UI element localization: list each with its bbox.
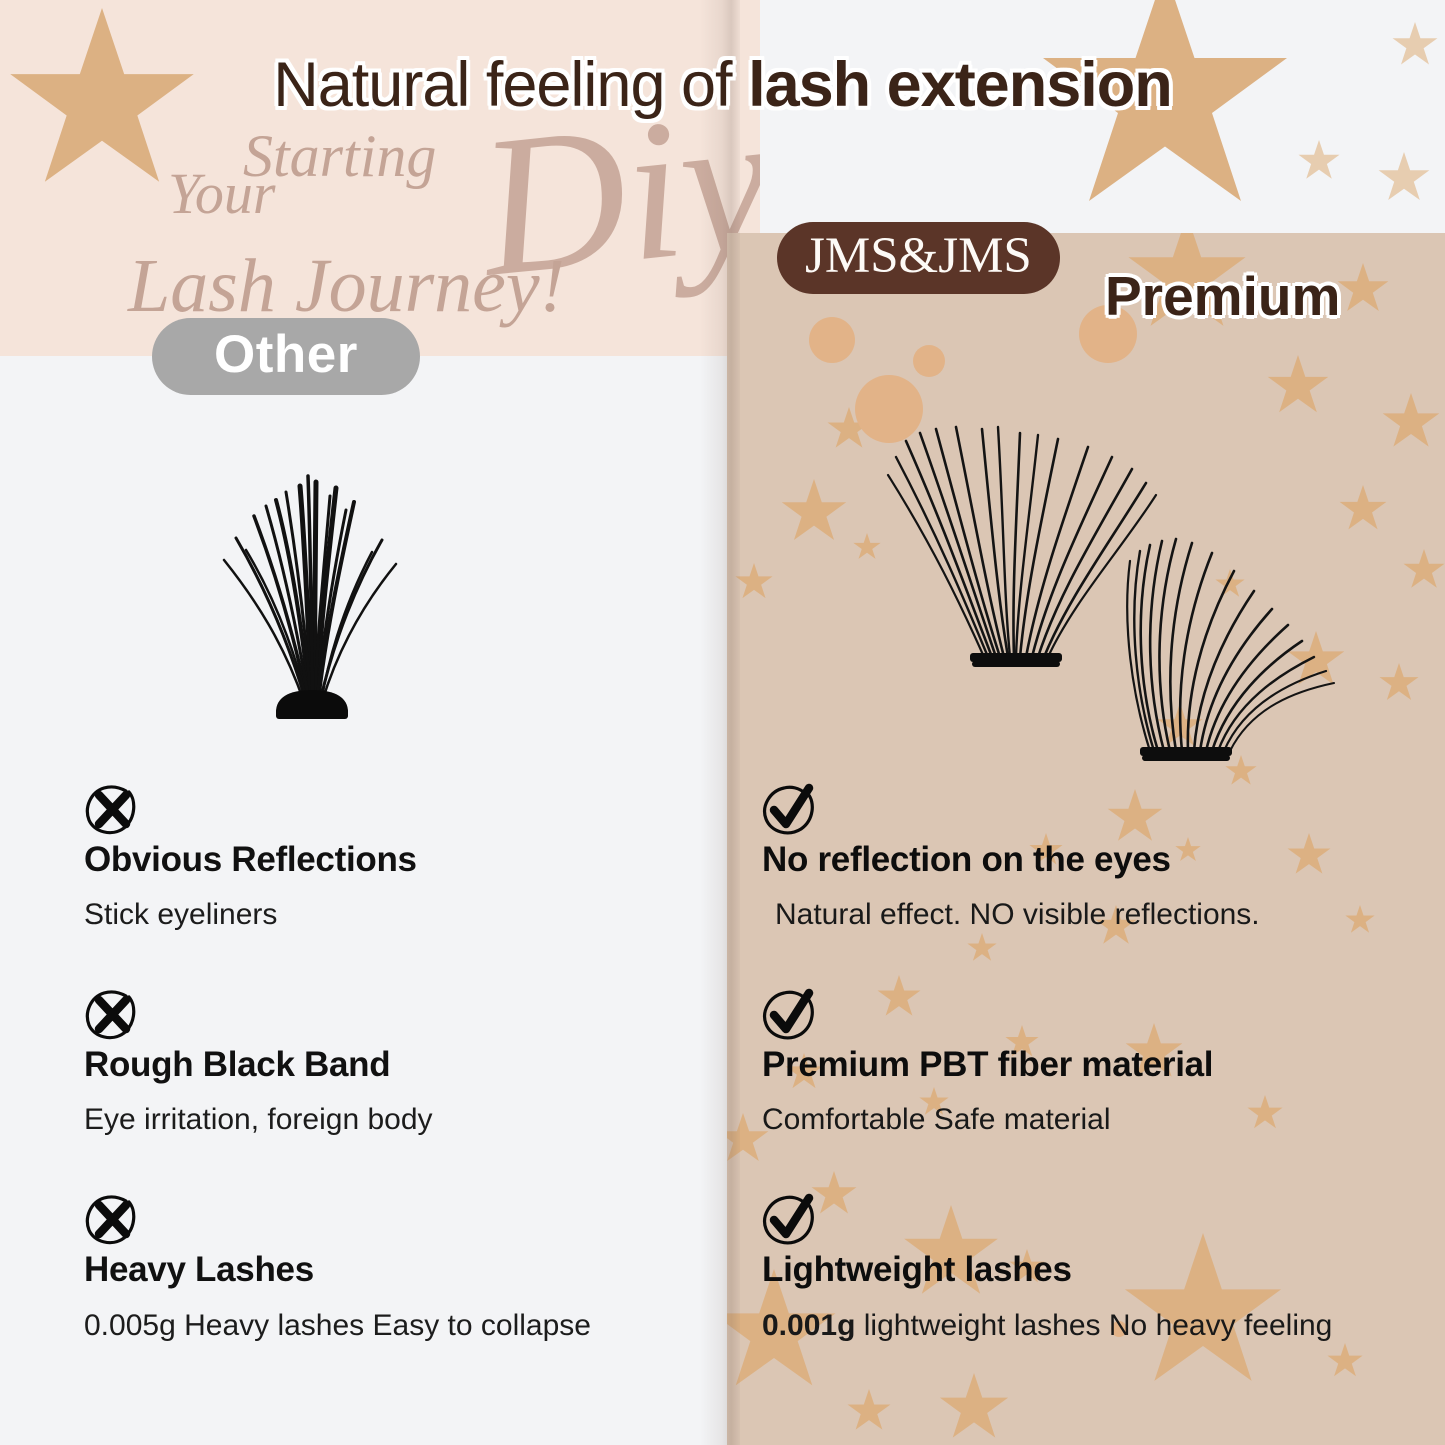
decorative-star (1403, 549, 1445, 591)
list-item: Obvious Reflections Stick eyeliners (84, 782, 684, 933)
feature-subtitle: 0.005g Heavy lashes Easy to collapse (84, 1308, 684, 1344)
lash-cluster-premium-image (840, 395, 1360, 795)
feature-subtitle: Natural effect. NO visible reflections. (762, 897, 1432, 933)
feature-title: Premium PBT fiber material (762, 1045, 1432, 1084)
feature-subtitle-weight: 0.001g (762, 1309, 855, 1342)
infographic-canvas: Diy Starting Your Lash Journey! (0, 0, 1445, 1445)
panel-divider (700, 0, 740, 1445)
cross-circle-icon (84, 1192, 140, 1248)
other-badge: Other (152, 318, 420, 395)
feature-title: No reflection on the eyes (762, 840, 1432, 879)
decorative-star (1379, 663, 1419, 703)
check-circle-icon (762, 987, 818, 1043)
feature-subtitle: Stick eyeliners (84, 897, 684, 933)
list-item: No reflection on the eyes Natural effect… (762, 782, 1432, 933)
decorative-star (1337, 263, 1389, 315)
feature-title: Rough Black Band (84, 1045, 684, 1084)
check-circle-icon (762, 1192, 818, 1248)
decorative-dot (913, 345, 945, 377)
check-circle-icon (762, 782, 818, 838)
headline-thin-part: Natural feeling of (273, 50, 748, 120)
premium-feature-list: No reflection on the eyes Natural effect… (762, 782, 1432, 1344)
cross-circle-icon (84, 782, 140, 838)
feature-title: Lightweight lashes (762, 1250, 1432, 1289)
feature-subtitle: Eye irritation, foreign body (84, 1102, 684, 1138)
headline-bold-part: lash extension (748, 50, 1172, 120)
premium-label: Premium (1105, 264, 1340, 328)
feature-subtitle: 0.001g lightweight lashes No heavy feeli… (762, 1308, 1432, 1344)
feature-subtitle-rest: lightweight lashes No heavy feeling (855, 1309, 1332, 1342)
decorative-star (781, 479, 847, 545)
list-item: Heavy Lashes 0.005g Heavy lashes Easy to… (84, 1192, 684, 1343)
list-item: Rough Black Band Eye irritation, foreign… (84, 987, 684, 1138)
cross-circle-icon (84, 987, 140, 1043)
other-feature-list: Obvious Reflections Stick eyeliners Roug… (84, 782, 684, 1344)
decorative-star (1327, 1343, 1363, 1379)
decorative-star (847, 1389, 891, 1433)
decorative-star (1382, 393, 1440, 451)
feature-title: Obvious Reflections (84, 840, 684, 879)
decorative-star (939, 1373, 1009, 1443)
decorative-star (1298, 140, 1340, 182)
brand-badge: JMS&JMS (777, 222, 1060, 294)
feature-title: Heavy Lashes (84, 1250, 684, 1289)
list-item: Lightweight lashes 0.001g lightweight la… (762, 1192, 1432, 1343)
decorative-dot (809, 317, 855, 363)
page-title: Natural feeling of lash extension (0, 52, 1445, 118)
decorative-star (1378, 152, 1430, 204)
decorative-star (735, 563, 773, 601)
lash-cluster-other-image (180, 440, 440, 720)
feature-subtitle: Comfortable Safe material (762, 1102, 1432, 1138)
list-item: Premium PBT fiber material Comfortable S… (762, 987, 1432, 1138)
